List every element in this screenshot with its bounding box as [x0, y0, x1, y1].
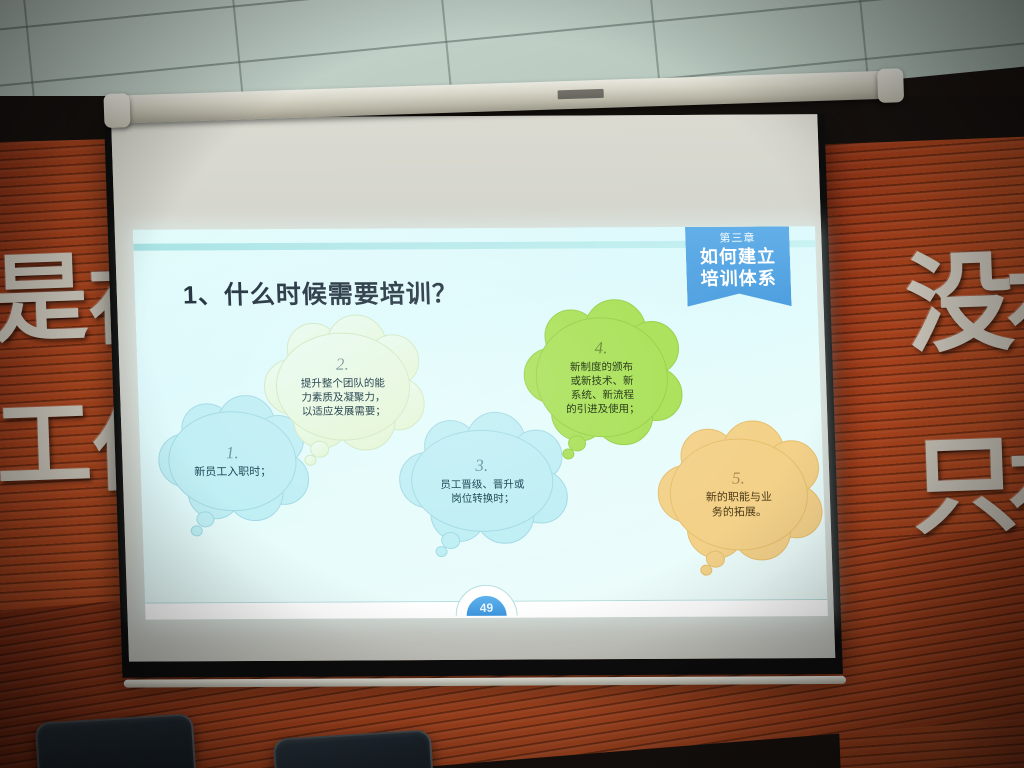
- projector-screen: 1、什么时候需要培训？ 第三章 如何建立 培训体系 1.: [104, 114, 843, 677]
- projected-slide: 1、什么时候需要培训？ 第三章 如何建立 培训体系 1.: [133, 226, 828, 619]
- cloud-3-number: 3.: [475, 456, 488, 476]
- wall-character-right-2: 有: [1004, 260, 1024, 368]
- ribbon-chapter-label: 第三章: [685, 231, 790, 246]
- cloud-5-number: 5.: [732, 469, 745, 489]
- ribbon-line-1: 如何建立: [686, 246, 791, 268]
- meeting-room-scene: 是 在 工 作 没 有 只 有 1、什么时候需要培训？ 第三章 如何建立 培训体…: [0, 0, 1024, 768]
- roller-end-cap-left: [103, 93, 130, 128]
- roller-brand-label: [558, 89, 604, 99]
- roller-end-cap-right: [877, 68, 904, 103]
- ribbon-line-2: 培训体系: [686, 268, 791, 290]
- chair-left: [35, 713, 199, 768]
- wall-character-left-3: 工: [0, 396, 94, 495]
- wall-character-left-1: 是: [0, 250, 90, 349]
- thought-cloud-4: 4. 新制度的颁布 或新技术、新 系统、新流程 的引进及使用；: [534, 317, 670, 438]
- cloud-2-text: 提升整个团队的能 力素质及凝聚力， 以适应发展需要；: [301, 376, 386, 419]
- thought-cloud-3: 3. 员工晋级、晋升或 岗位转换时；: [410, 430, 555, 533]
- thought-cloud-5: 5. 新的职能与业 务的拓展。: [668, 438, 810, 551]
- cloud-3-text: 员工晋级、晋升或 岗位转换时；: [440, 477, 525, 506]
- thought-cloud-2: 2. 提升整个团队的能 力素质及凝聚力， 以适应发展需要；: [274, 332, 412, 441]
- page-number: 49: [466, 596, 507, 616]
- cloud-4-number: 4.: [594, 338, 607, 358]
- cloud-5-text: 新的职能与业 务的拓展。: [706, 491, 773, 521]
- cloud-1-text: 新员工入职时；: [194, 465, 272, 480]
- cloud-4-text: 新制度的颁布 或新技术、新 系统、新流程 的引进及使用；: [565, 360, 640, 417]
- wall-character-right-4: 有: [1006, 442, 1024, 550]
- cloud-1-number: 1.: [225, 443, 238, 463]
- wall-character-right-1: 没: [904, 250, 1016, 362]
- wall-character-right-3: 只: [910, 432, 1020, 542]
- chapter-ribbon: 第三章 如何建立 培训体系: [685, 226, 792, 306]
- page-number-arc: 49: [455, 585, 518, 616]
- slide-title: 1、什么时候需要培训？: [182, 274, 458, 311]
- cloud-2-number: 2.: [336, 354, 349, 374]
